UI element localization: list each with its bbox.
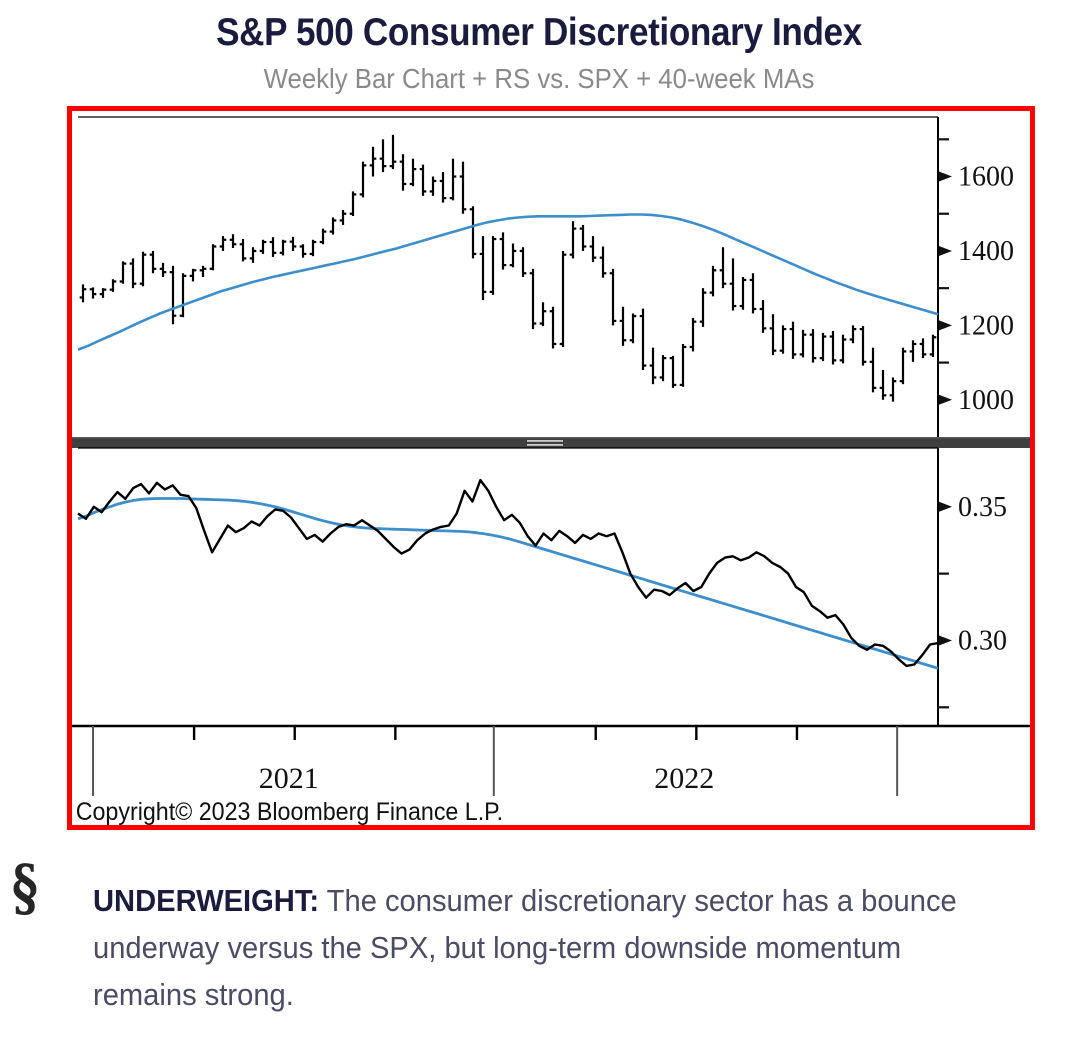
y-axis-tick-label: 1200 (958, 310, 1014, 341)
chart-header: S&P 500 Consumer Discretionary Index Wee… (0, 0, 1078, 104)
relative-strength-panel[interactable]: 0.300.35 (78, 448, 1007, 726)
y-axis-tick-label: 1000 (958, 385, 1014, 416)
chart-frame: 1000120014001600 0.300.35 20212022Copyri… (67, 106, 1035, 830)
commentary-rating-label: UNDERWEIGHT: (93, 883, 319, 918)
panel-splitter[interactable] (72, 437, 1030, 448)
section-mark-icon: § (12, 857, 38, 919)
page-subtitle: Weekly Bar Chart + RS vs. SPX + 40-week … (43, 63, 1035, 95)
page-title: S&P 500 Consumer Discretionary Index (54, 11, 1024, 55)
price-panel[interactable]: 1000120014001600 (78, 117, 1014, 441)
commentary-footnote: § UNDERWEIGHT: The consumer discretionar… (0, 855, 1078, 1045)
x-axis-tick-label: 2022 (654, 762, 714, 795)
commentary-text: UNDERWEIGHT: The consumer discretionary … (93, 877, 1000, 1018)
y-axis-tick-marker (939, 246, 952, 256)
y-axis-tick-marker (939, 172, 952, 182)
x-axis: 20212022Copyright© 2023 Bloomberg Financ… (72, 726, 1030, 825)
rs-line (78, 480, 938, 666)
rs-moving-average-line (78, 499, 938, 669)
y-axis-tick-marker (939, 635, 952, 645)
bloomberg-chart[interactable]: 1000120014001600 0.300.35 20212022Copyri… (72, 111, 1030, 825)
y-axis-tick-label: 1600 (958, 162, 1014, 193)
y-axis-tick-label: 0.30 (958, 625, 1007, 656)
y-axis-tick-marker (939, 395, 952, 405)
y-axis-tick-marker (939, 320, 952, 330)
y-axis-tick-label: 1400 (958, 236, 1014, 267)
price-moving-average-line (78, 215, 938, 350)
copyright-notice: Copyright© 2023 Bloomberg Finance L.P. (76, 798, 503, 825)
splitter-bar (72, 437, 1030, 448)
y-axis-tick-marker (939, 502, 952, 512)
splitter-grip-icon (527, 440, 563, 442)
y-axis-tick-label: 0.35 (958, 492, 1007, 523)
x-axis-tick-label: 2021 (259, 762, 319, 795)
